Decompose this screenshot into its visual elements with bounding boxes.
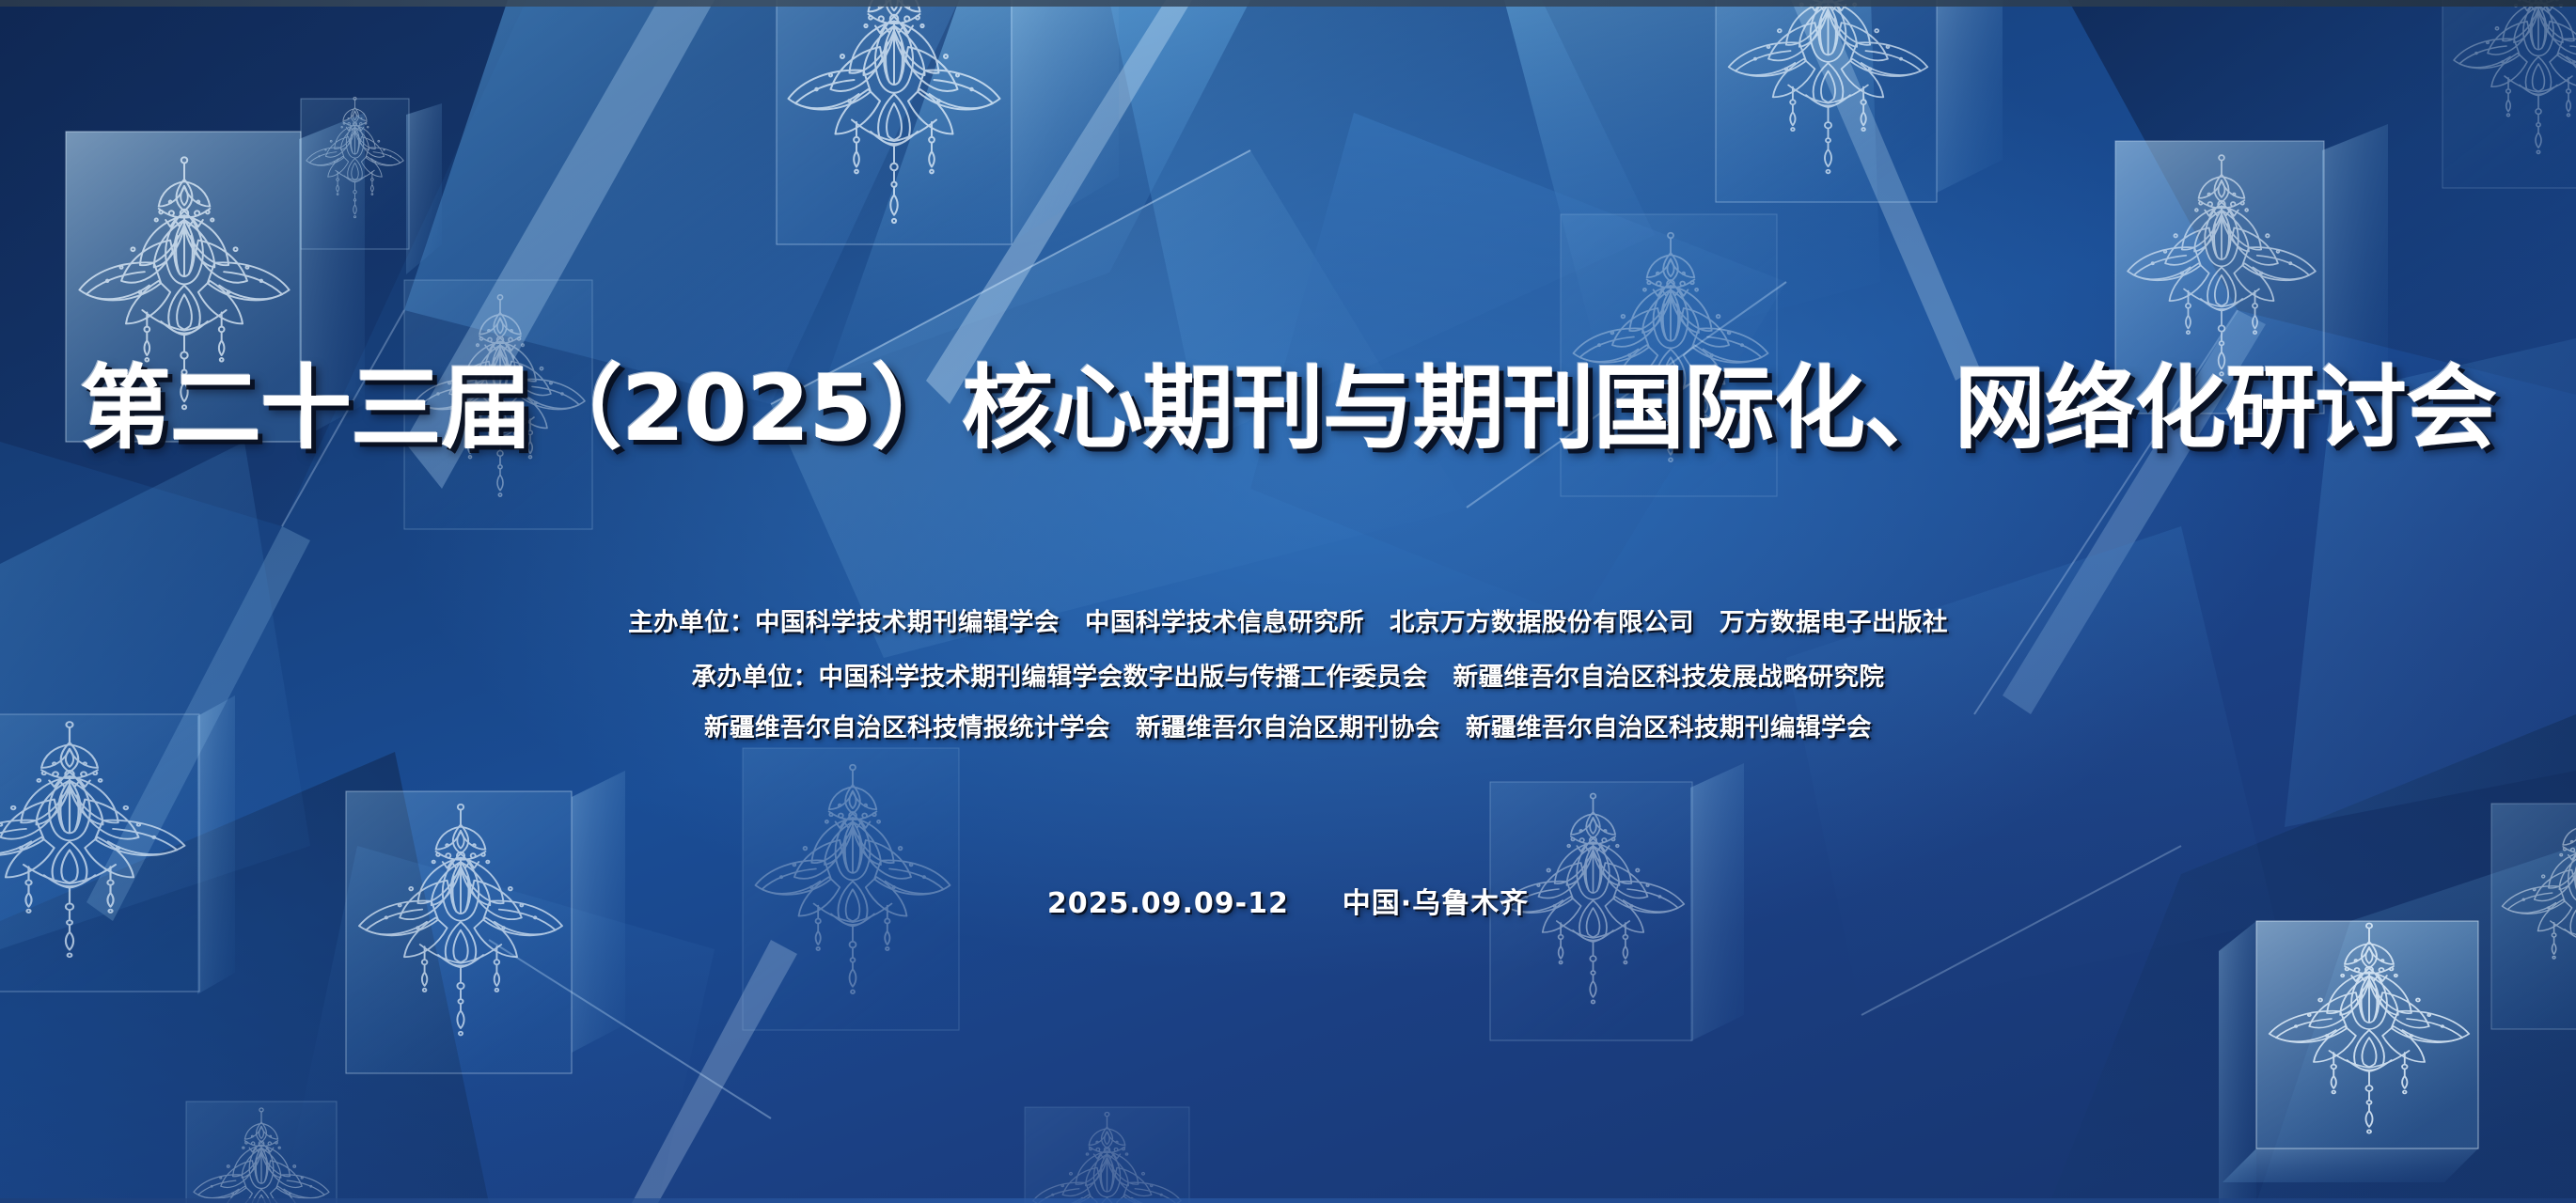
poster-content: 第二十三届（2025）核心期刊与期刊国际化、网络化研讨会 主办单位：中国科学技术… bbox=[0, 0, 2576, 1203]
host-organizations-line: 主办单位：中国科学技术期刊编辑学会 中国科学技术信息研究所 北京万方数据股份有限… bbox=[0, 611, 2576, 636]
organizer-organizations-line-2: 新疆维吾尔自治区科技情报统计学会 新疆维吾尔自治区期刊协会 新疆维吾尔自治区科技… bbox=[0, 716, 2576, 742]
organizer-organizations-line: 承办单位：中国科学技术期刊编辑学会数字出版与传播工作委员会 新疆维吾尔自治区科技… bbox=[0, 665, 2576, 691]
conference-title: 第二十三届（2025）核心期刊与期刊国际化、网络化研讨会 bbox=[0, 363, 2576, 454]
conference-date: 2025.09.09-12 bbox=[1047, 887, 1289, 920]
organizers-block: 主办单位：中国科学技术期刊编辑学会 中国科学技术信息研究所 北京万方数据股份有限… bbox=[0, 611, 2576, 742]
conference-location: 中国·乌鲁木齐 bbox=[1343, 887, 1529, 920]
date-location-bar: 2025.09.09-12 中国·乌鲁木齐 bbox=[0, 890, 2576, 918]
poster-backdrop: 第二十三届（2025）核心期刊与期刊国际化、网络化研讨会 主办单位：中国科学技术… bbox=[0, 0, 2576, 1203]
